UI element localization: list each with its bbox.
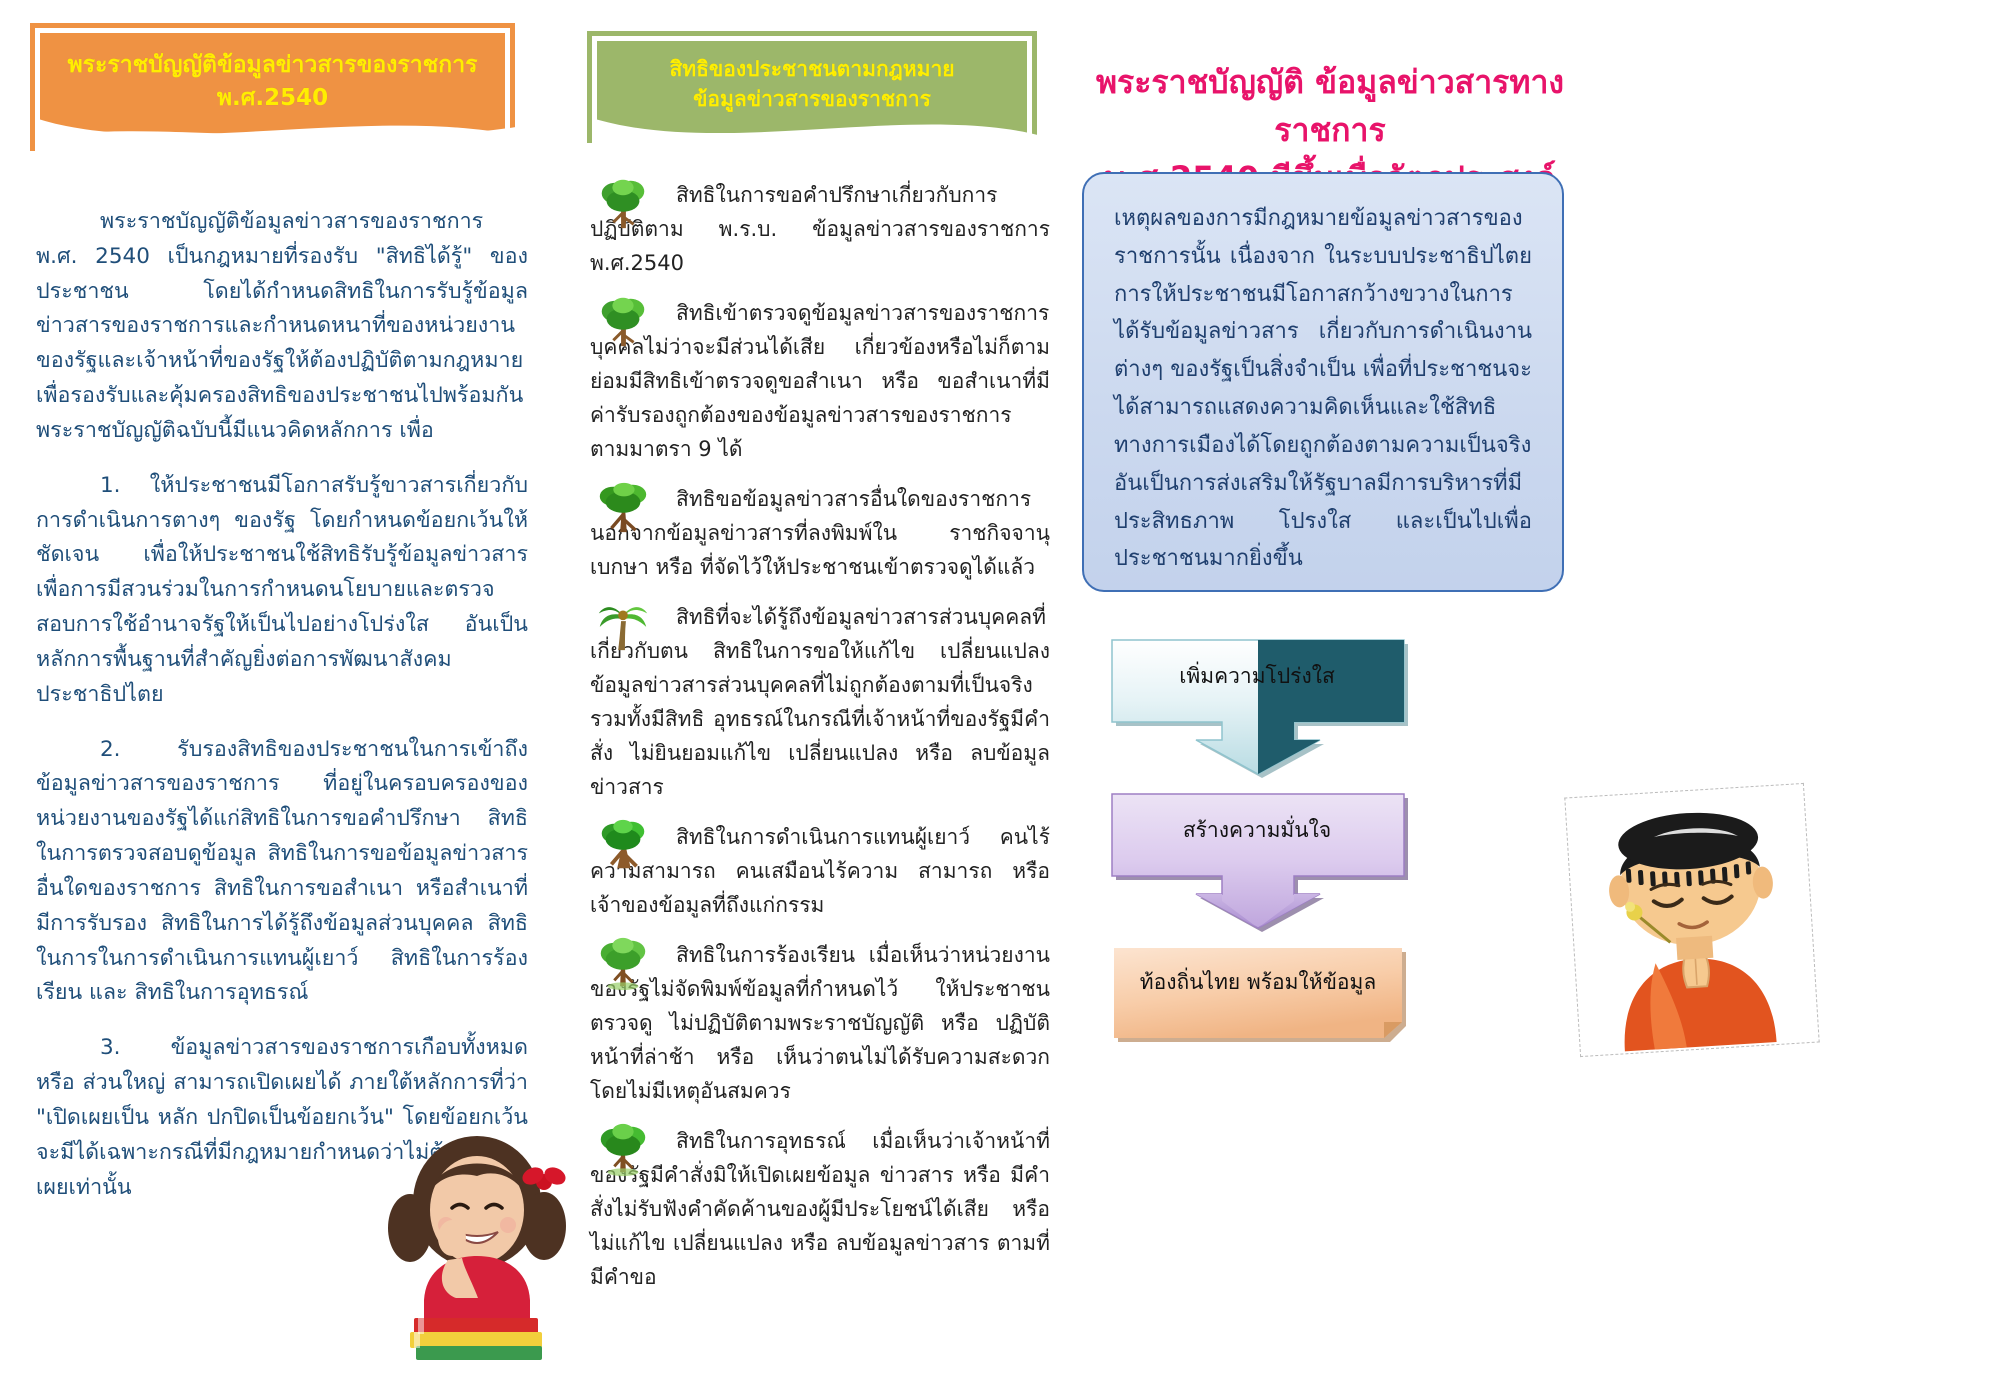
flow-step-2: สร้างความมั่นใจ xyxy=(1110,786,1410,936)
flow-arrow-teal-icon xyxy=(1110,632,1410,782)
tree-icon xyxy=(594,292,652,350)
praying-novice-monk-photo xyxy=(1565,784,1820,1058)
left-paragraph-1-text: 1. ให้ประชาชนมีโอกาสรับรู้ขาวสารเกี่ยวกั… xyxy=(36,473,528,707)
monk-photo-frame xyxy=(1564,783,1819,1057)
flow-step-1: เพิ่มความโปร่งใส xyxy=(1110,632,1410,782)
column-right: พระราชบัญญัติ ข้อมูลข่าวสารทางราชการ พ.ศ… xyxy=(1060,0,2000,1398)
left-banner-line1: พระราชบัญญัติข้อมูลข่าวสารของราชการ xyxy=(68,49,478,82)
tree-icon xyxy=(594,816,652,874)
purpose-blue-box: เหตุผลของการมีกฎหมายข้อมูลข่าวสารของราชก… xyxy=(1082,172,1564,592)
left-body-text: พระราชบัญญัติข้อมูลข่าวสารของราชการ พ.ศ.… xyxy=(36,205,528,1225)
right-item-text: สิทธิที่จะได้รู้ถึงข้อมูลข่าวสารส่วนบุคค… xyxy=(590,600,1050,804)
left-paragraph-0: พระราชบัญญัติข้อมูลข่าวสารของราชการ พ.ศ.… xyxy=(36,205,528,449)
left-paragraph-0-text: พระราชบัญญัติข้อมูลข่าวสารของราชการ พ.ศ.… xyxy=(36,209,528,443)
right-item-text: สิทธิขอข้อมูลข่าวสารอื่นใดของราชการ นอกจ… xyxy=(590,482,1050,584)
right-item-text: สิทธิในการขอคำปรึกษาเกี่ยวกับการ ปฏิบัติ… xyxy=(590,178,1050,280)
tree-icon xyxy=(594,934,652,992)
column-left: พระราชบัญญัติข้อมูลข่าวสารของราชการ พ.ศ.… xyxy=(0,0,580,1398)
left-paragraph-2-text: 2. รับรองสิทธิของประชาชนในการเข้าถึงข้อม… xyxy=(36,737,528,1006)
flow-step-3: ท้องถิ่นไทย พร้อมให้ข้อมูล xyxy=(1110,942,1410,1054)
middle-banner-curve-icon xyxy=(592,96,1042,158)
right-item: สิทธิในการขอคำปรึกษาเกี่ยวกับการ ปฏิบัติ… xyxy=(590,178,1050,280)
left-paragraph-1: 1. ให้ประชาชนมีโอกาสรับรู้ขาวสารเกี่ยวกั… xyxy=(36,469,528,713)
left-paragraph-2: 2. รับรองสิทธิของประชาชนในการเข้าถึงข้อม… xyxy=(36,733,528,1012)
tree-icon xyxy=(594,478,652,536)
right-item: สิทธิในการร้องเรียน เมื่อเห็นว่าหน่วยงาน… xyxy=(590,938,1050,1108)
purpose-text: เหตุผลของการมีกฎหมายข้อมูลข่าวสารของราชก… xyxy=(1114,200,1532,578)
flow-step-1-label: เพิ่มความโปร่งใส xyxy=(1110,660,1404,693)
left-banner-curve-icon xyxy=(35,100,520,160)
right-item: สิทธิขอข้อมูลข่าวสารอื่นใดของราชการ นอกจ… xyxy=(590,482,1050,584)
right-item-text: สิทธิในการดำเนินการแทนผู้เยาว์ คนไร้ความ… xyxy=(590,820,1050,922)
palm-tree-icon xyxy=(594,596,652,654)
tree-icon xyxy=(594,1120,652,1178)
flowchart: เพิ่มความโปร่งใส xyxy=(1110,632,1430,1054)
right-item: สิทธิเข้าตรวจดูข้อมูลข่าวสารของราชการ บุ… xyxy=(590,296,1050,466)
flow-arrow-purple-icon xyxy=(1110,786,1410,936)
right-item: สิทธิที่จะได้รู้ถึงข้อมูลข่าวสารส่วนบุคค… xyxy=(590,600,1050,804)
brochure-page: พระราชบัญญัติข้อมูลข่าวสารของราชการ พ.ศ.… xyxy=(0,0,2000,1398)
right-item: สิทธิในการดำเนินการแทนผู้เยาว์ คนไร้ความ… xyxy=(590,820,1050,922)
flow-step-2-label: สร้างความมั่นใจ xyxy=(1110,814,1404,847)
right-item-text: สิทธิในการร้องเรียน เมื่อเห็นว่าหน่วยงาน… xyxy=(590,938,1050,1108)
right-item-text: สิทธิในการอุทธรณ์ เมื่อเห็นว่าเจ้าหน้าที… xyxy=(590,1124,1050,1294)
column-middle: สิทธิของประชาชนตามกฎหมาย ข้อมูลข่าวสารขอ… xyxy=(580,0,1060,1398)
right-title-line1: พระราชบัญญัติ ข้อมูลข่าวสารทางราชการ xyxy=(1080,58,1580,154)
flow-step-3-label: ท้องถิ่นไทย พร้อมให้ข้อมูล xyxy=(1110,966,1406,999)
right-item-text: สิทธิเข้าตรวจดูข้อมูลข่าวสารของราชการ บุ… xyxy=(590,296,1050,466)
tree-icon xyxy=(594,174,652,232)
right-item: สิทธิในการอุทธรณ์ เมื่อเห็นว่าเจ้าหน้าที… xyxy=(590,1124,1050,1294)
rights-list: สิทธิในการขอคำปรึกษาเกี่ยวกับการ ปฏิบัติ… xyxy=(590,178,1050,1310)
girl-with-books-photo xyxy=(352,1110,602,1360)
middle-banner-line1: สิทธิของประชาชนตามกฎหมาย xyxy=(669,54,954,84)
